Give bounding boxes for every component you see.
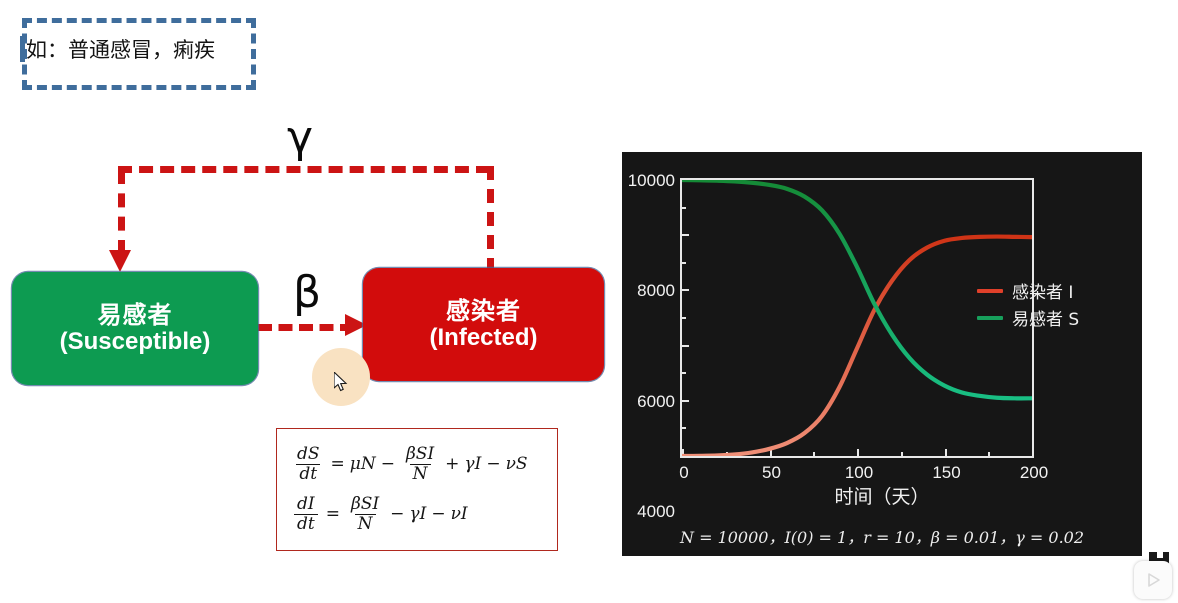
- eq1-beta-si-over-n: βSI N: [403, 445, 437, 483]
- legend-item[interactable]: 易感者 S: [977, 304, 1079, 331]
- note-text: 如：普通感冒，痢疾: [26, 34, 215, 64]
- gamma-arrow-top-segment: [118, 166, 490, 173]
- x-tick-label: 100: [845, 463, 873, 483]
- eq1-term-gamma-i: γI: [464, 454, 481, 474]
- x-tick-label: 50: [762, 463, 781, 483]
- legend-swatch-icon: [977, 289, 1003, 293]
- eq1-term-mu-n: μN: [350, 454, 376, 474]
- eq2-frac-numerator: βSI: [348, 495, 382, 513]
- di-numerator: dI: [294, 495, 318, 513]
- eq1-plus: +: [445, 454, 459, 474]
- eq2-equals: =: [326, 504, 340, 524]
- infected-cn-label: 感染者: [446, 298, 521, 325]
- note-accent-bar: [20, 36, 25, 62]
- gamma-arrow-right-segment: [487, 166, 494, 272]
- eq2-term-nu-i: νI: [451, 504, 468, 524]
- legend-item[interactable]: 感染者 I: [977, 277, 1079, 304]
- eq1-minus-1: −: [381, 454, 395, 474]
- gamma-arrowhead-icon: [109, 250, 131, 272]
- susceptible-cn-label: 易感者: [98, 302, 173, 329]
- eq2-minus-1: −: [390, 504, 404, 524]
- equation-row-di-dt: dI dt = βSI N − γI − νI: [291, 489, 543, 539]
- x-axis-label: 时间（天）: [622, 482, 1142, 509]
- x-tick-label: 0: [679, 463, 688, 483]
- eq1-equals: =: [331, 454, 345, 474]
- gamma-symbol-label: γ: [287, 116, 313, 160]
- beta-arrow-segment: [258, 324, 354, 331]
- eq2-beta-si-over-n: βSI N: [348, 495, 382, 533]
- gamma-arrow-left-segment: [118, 170, 125, 254]
- infected-en-label: (Infected): [430, 325, 538, 352]
- sir-simulation-chart: 0200040006000800010000 050100150200 感染者 …: [622, 152, 1142, 556]
- equations-box: dS dt = μN − βSI N + γI − νS dI dt = βSI…: [276, 428, 558, 551]
- susceptible-state-box[interactable]: 易感者 (Susceptible): [12, 272, 258, 385]
- eq1-term-nu-s: νS: [506, 454, 528, 474]
- mouse-cursor-icon: [334, 372, 348, 392]
- y-tick-label: 6000: [637, 392, 675, 412]
- ds-numerator: dS: [294, 445, 323, 463]
- legend-swatch-icon: [977, 316, 1003, 320]
- eq2-minus-2: −: [431, 504, 445, 524]
- legend-label: 感染者 I: [1012, 278, 1073, 303]
- di-dt-fraction: dI dt: [294, 495, 318, 533]
- infected-state-box[interactable]: 感染者 (Infected): [363, 268, 604, 381]
- eq2-term-gamma-i: γI: [409, 504, 426, 524]
- play-icon: [1143, 570, 1163, 590]
- y-tick-label: 8000: [637, 281, 675, 301]
- beta-symbol-label: β: [293, 271, 321, 315]
- legend-label: 易感者 S: [1012, 305, 1079, 330]
- chart-parameters-caption: N = 10000，I(0) = 1，r = 10，β = 0.01，γ = 0…: [622, 524, 1142, 548]
- play-button[interactable]: [1134, 561, 1172, 599]
- ds-dt-fraction: dS dt: [294, 445, 323, 483]
- eq1-frac-denominator: N: [410, 464, 431, 483]
- equation-row-ds-dt: dS dt = μN − βSI N + γI − νS: [291, 439, 543, 489]
- dt-denominator-2: dt: [294, 514, 318, 533]
- susceptible-en-label: (Susceptible): [60, 329, 211, 356]
- eq2-frac-denominator: N: [355, 514, 376, 533]
- dt-denominator: dt: [296, 464, 320, 483]
- eq1-frac-numerator: βSI: [403, 445, 437, 463]
- y-tick-label: 10000: [628, 171, 675, 191]
- x-tick-major: 200: [1032, 449, 1034, 456]
- x-tick-label: 200: [1020, 463, 1048, 483]
- x-tick-label: 150: [932, 463, 960, 483]
- chart-legend: 感染者 I易感者 S: [977, 277, 1079, 331]
- eq1-minus-2: −: [486, 454, 500, 474]
